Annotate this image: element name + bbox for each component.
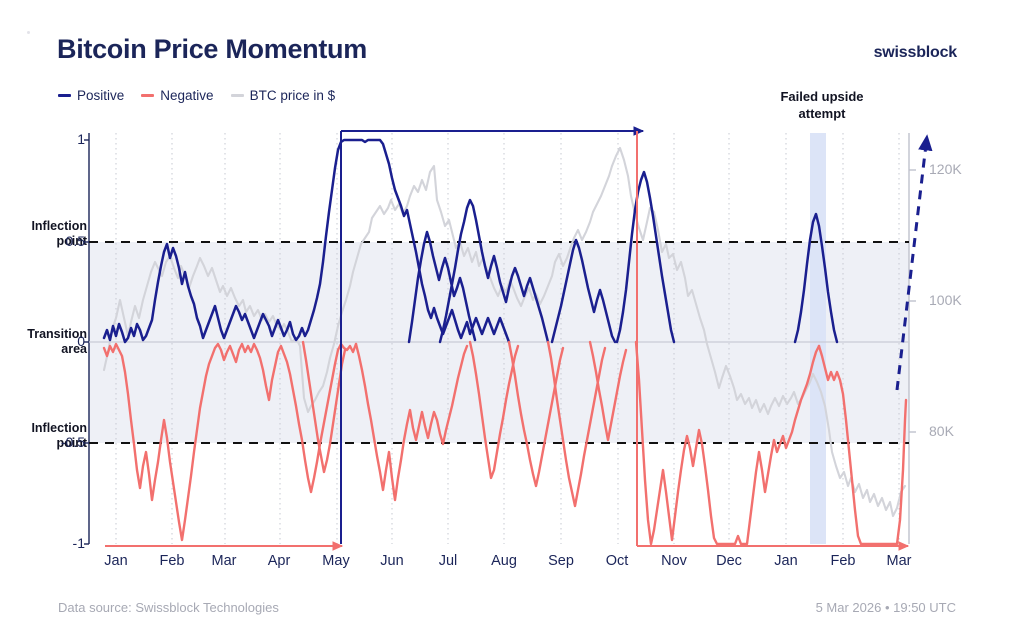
right-axis-ticks xyxy=(909,170,916,432)
highlight-band-failed-upside xyxy=(810,133,826,544)
chart-plot-area xyxy=(0,0,1024,644)
y-axis-ticks xyxy=(84,140,89,544)
